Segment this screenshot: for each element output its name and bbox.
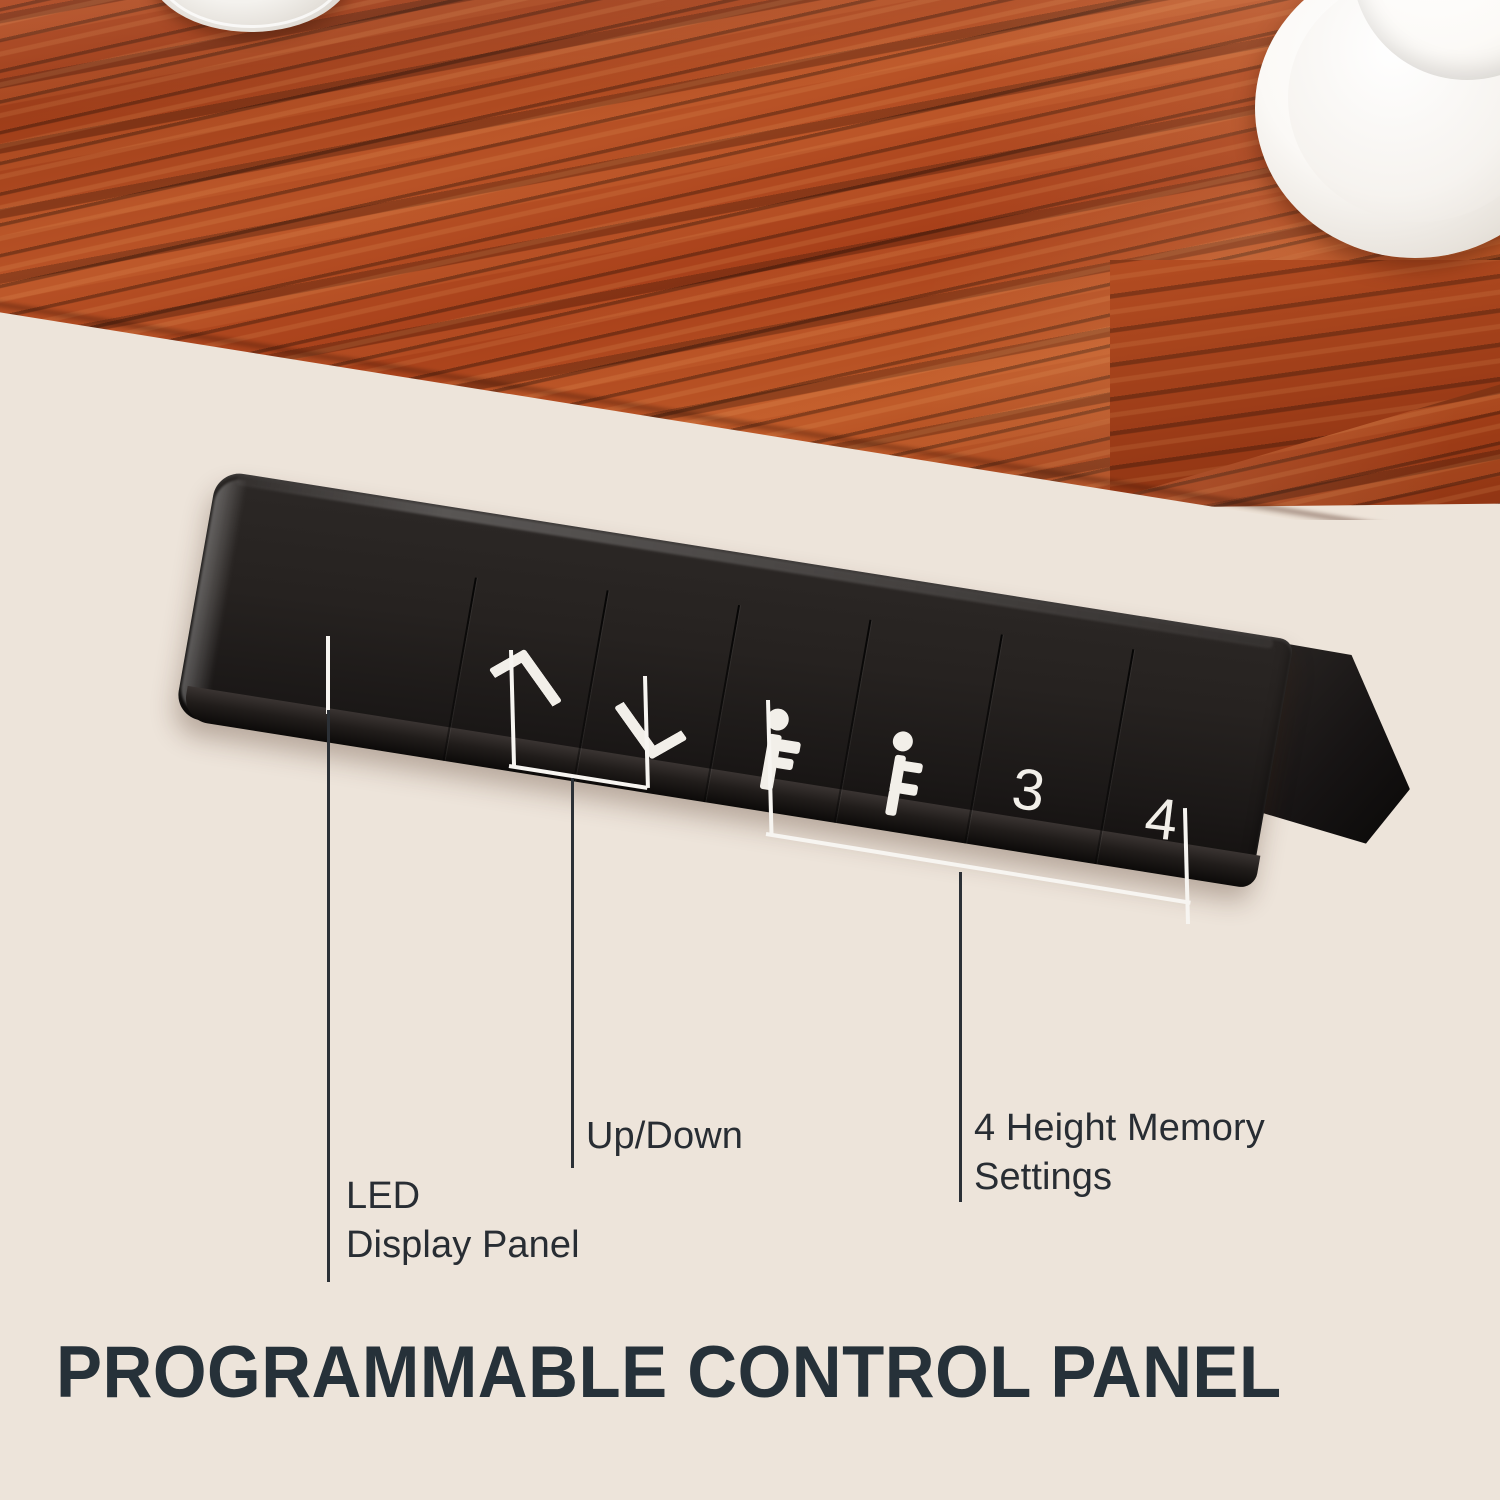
product-image-stage: 3 4 LED Display Panel Up/Down 4 Height M… bbox=[0, 0, 1500, 1500]
led-leader-dark bbox=[327, 710, 330, 1282]
memory-leader-dark bbox=[959, 872, 962, 1202]
memory-4-label: 4 bbox=[1141, 784, 1181, 854]
updown-leader-dark bbox=[571, 778, 574, 1168]
sitting-person-svg bbox=[872, 728, 941, 823]
standing-person-icon bbox=[743, 705, 812, 805]
panel-body[interactable]: 3 4 bbox=[174, 470, 1294, 887]
standing-person-svg bbox=[744, 705, 813, 800]
memory-3-button[interactable]: 3 bbox=[968, 635, 1127, 863]
annotation-memory-label: 4 Height Memory Settings bbox=[974, 1104, 1265, 1203]
page-title: PROGRAMMABLE CONTROL PANEL bbox=[56, 1330, 1282, 1414]
annotation-led-label: LED Display Panel bbox=[346, 1172, 580, 1271]
up-chevron-icon bbox=[492, 660, 551, 698]
led-display-panel-key[interactable] bbox=[185, 481, 479, 755]
memory-3-label: 3 bbox=[1008, 755, 1048, 825]
memory-4-button[interactable]: 4 bbox=[1098, 650, 1264, 885]
sitting-person-icon bbox=[871, 728, 940, 828]
led-leader-white bbox=[326, 636, 330, 714]
annotation-updown-label: Up/Down bbox=[586, 1112, 743, 1161]
